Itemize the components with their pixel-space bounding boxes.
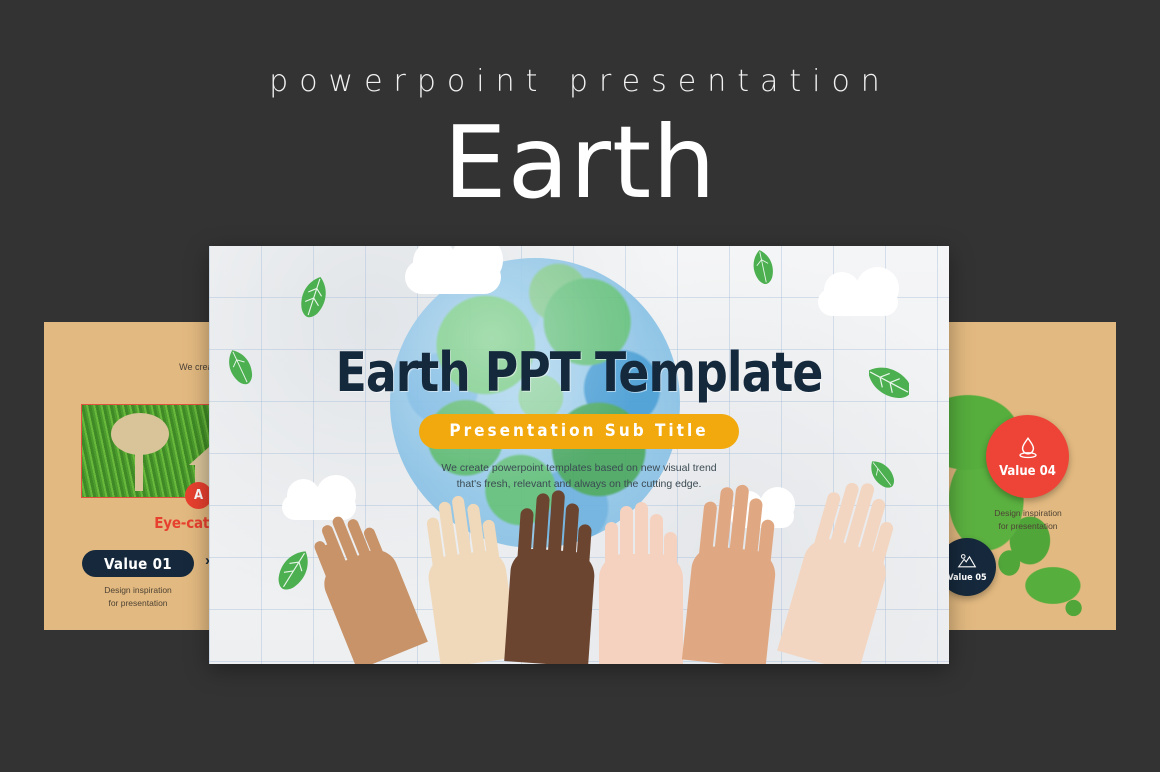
value-caption-01-line2: for presentation [82,597,194,610]
value-caption-04-line2: for presentation [978,520,1078,533]
value-caption-01-line1: Design inspiration [82,584,194,597]
paper-cut-tree-crown [111,413,169,455]
cloud-icon [818,288,898,316]
center-slide-title: Earth PPT Template [231,346,927,400]
value-circle-05-label: Value 05 [947,573,986,583]
leaf-icon [749,248,777,286]
center-slide-title-block: Earth PPT Template Presentation Sub Titl… [209,346,949,493]
mountain-icon [957,551,977,571]
cloud-icon [405,260,501,294]
value-caption-04: Design inspiration for presentation [978,507,1078,533]
value-caption-01: Design inspiration for presentation [82,584,194,610]
left-slide-badge: A [185,482,212,509]
center-slide-subtitle-pill: Presentation Sub Title [419,414,738,449]
value-circle-04[interactable]: Value 04 [986,415,1069,498]
page-title: Earth [0,113,1160,213]
slide-preview-center[interactable]: Earth PPT Template Presentation Sub Titl… [209,246,949,664]
page-header: powerpoint presentation Earth [0,0,1160,213]
value-pill-01[interactable]: Value 01 [82,550,194,577]
leaf-icon [297,274,331,320]
value-caption-04-line1: Design inspiration [978,507,1078,520]
page-kicker: powerpoint presentation [0,64,1160,99]
value-circle-04-label: Value 04 [999,464,1056,479]
water-drop-icon [1015,435,1041,461]
raised-hands-illustration [209,474,949,664]
